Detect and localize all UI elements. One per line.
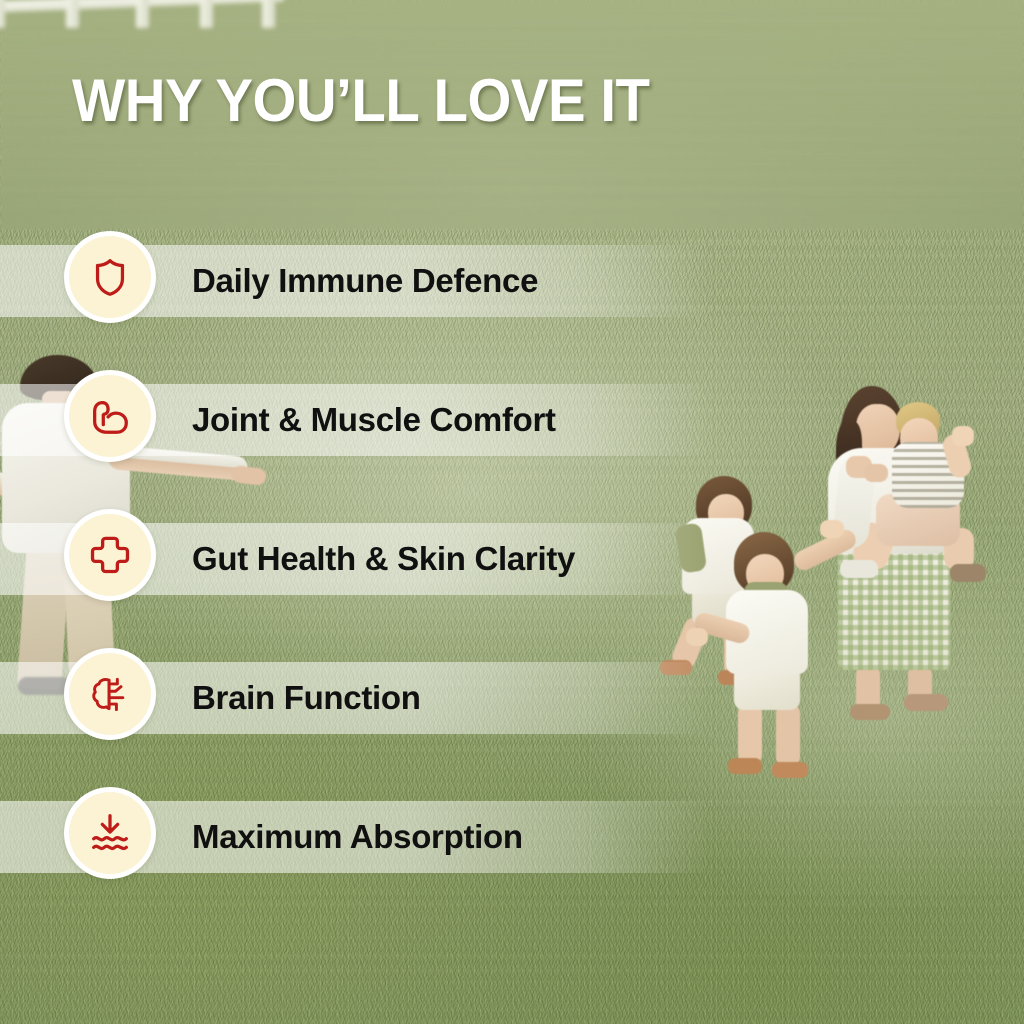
promo-poster: WHY YOU’LL LOVE IT Daily Immune Defence: [0, 0, 1024, 1024]
benefit-row-joint-muscle-comfort[interactable]: Joint & Muscle Comfort: [0, 384, 712, 456]
benefit-icon-badge: [64, 648, 156, 740]
benefit-row-gut-health-skin-clarity[interactable]: Gut Health & Skin Clarity: [0, 523, 712, 595]
benefit-label: Maximum Absorption: [192, 818, 523, 856]
benefit-label: Brain Function: [192, 679, 421, 717]
absorption-icon: [87, 810, 133, 856]
benefit-row-daily-immune-defence[interactable]: Daily Immune Defence: [0, 245, 712, 317]
benefit-icon-badge: [64, 787, 156, 879]
benefit-row-brain-function[interactable]: Brain Function: [0, 662, 712, 734]
benefits-list: Daily Immune Defence Joint & Muscle Comf…: [0, 0, 1024, 1024]
shield-icon: [87, 254, 133, 300]
benefit-label: Joint & Muscle Comfort: [192, 401, 556, 439]
benefit-row-maximum-absorption[interactable]: Maximum Absorption: [0, 801, 712, 873]
bicep-icon: [87, 393, 133, 439]
benefit-label: Daily Immune Defence: [192, 262, 538, 300]
benefit-label: Gut Health & Skin Clarity: [192, 540, 575, 578]
benefit-icon-badge: [64, 509, 156, 601]
benefit-icon-badge: [64, 231, 156, 323]
medical-cross-icon: [87, 532, 133, 578]
benefit-icon-badge: [64, 370, 156, 462]
brain-icon: [88, 672, 132, 716]
